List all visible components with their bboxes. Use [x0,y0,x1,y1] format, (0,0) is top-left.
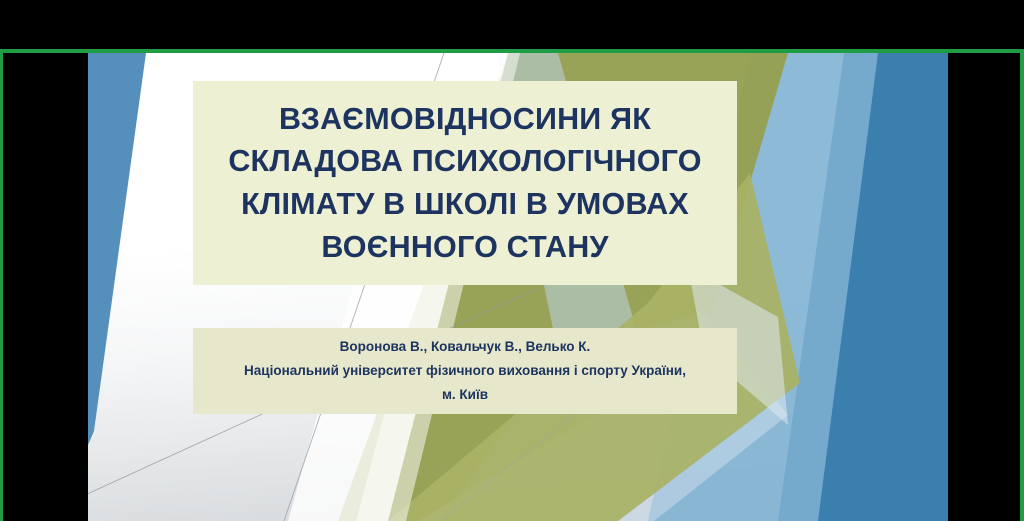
slide-title-card: ВЗАЄМОВІДНОСИНИ ЯК СКЛАДОВА ПСИХОЛОГІЧНО… [193,81,737,285]
accent-rule-left [0,49,3,521]
letterbox-bar-left [3,53,88,521]
slide-author-card: Воронова В., Ковальчук В., Велько К. Нац… [193,328,737,414]
left-blue-wedge [88,53,146,445]
author-names: Воронова В., Ковальчук В., Велько К. [340,335,591,359]
presentation-slide: ВЗАЄМОВІДНОСИНИ ЯК СКЛАДОВА ПСИХОЛОГІЧНО… [88,53,948,521]
affiliation-line: Національний університет фізичного вихов… [244,359,686,383]
letterbox-bar-right [948,53,1020,521]
video-player-viewport: ВЗАЄМОВІДНОСИНИ ЯК СКЛАДОВА ПСИХОЛОГІЧНО… [0,0,1024,521]
city-line: м. Київ [442,383,488,407]
player-chrome-bar [0,0,1024,52]
slide-title: ВЗАЄМОВІДНОСИНИ ЯК СКЛАДОВА ПСИХОЛОГІЧНО… [212,98,717,269]
accent-rule-top [0,49,1024,53]
accent-rule-right [1020,49,1024,521]
